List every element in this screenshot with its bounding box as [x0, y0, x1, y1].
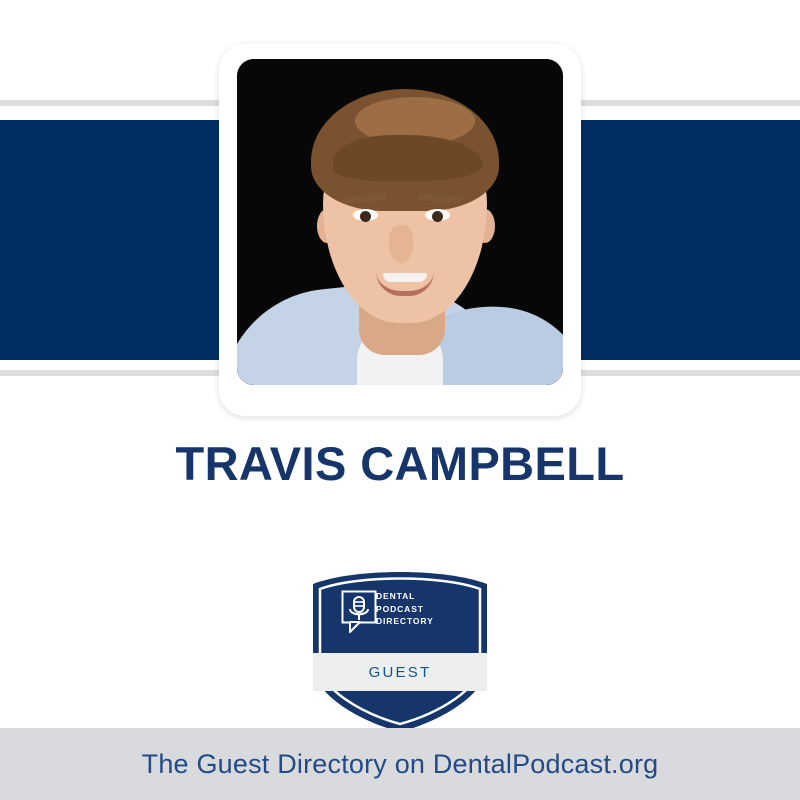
- photo-pupil-right: [432, 211, 443, 222]
- shield-shape-icon: [310, 562, 490, 734]
- photo-pupil-left: [360, 211, 371, 222]
- badge-brand-line-1: DENTAL: [376, 590, 466, 603]
- guest-announcement-card: TRAVIS CAMPBELL DENTAL PODCAST DIRECTORY: [0, 0, 800, 800]
- badge-role-label: GUEST: [369, 664, 432, 681]
- badge-ribbon: GUEST: [313, 653, 487, 691]
- microphone-speech-bubble-icon: [341, 590, 379, 634]
- guest-headshot-photo: [237, 59, 563, 385]
- badge-brand-line-2: PODCAST: [376, 603, 466, 616]
- guest-name: TRAVIS CAMPBELL: [0, 436, 800, 491]
- footer-bar: The Guest Directory on DentalPodcast.org: [0, 728, 800, 800]
- photo-nose: [389, 225, 413, 263]
- footer-tagline: The Guest Directory on DentalPodcast.org: [142, 749, 659, 780]
- badge-brand-line-3: DIRECTORY: [376, 615, 466, 628]
- guest-badge: DENTAL PODCAST DIRECTORY GUEST: [310, 562, 490, 734]
- badge-brand-text: DENTAL PODCAST DIRECTORY: [376, 590, 466, 628]
